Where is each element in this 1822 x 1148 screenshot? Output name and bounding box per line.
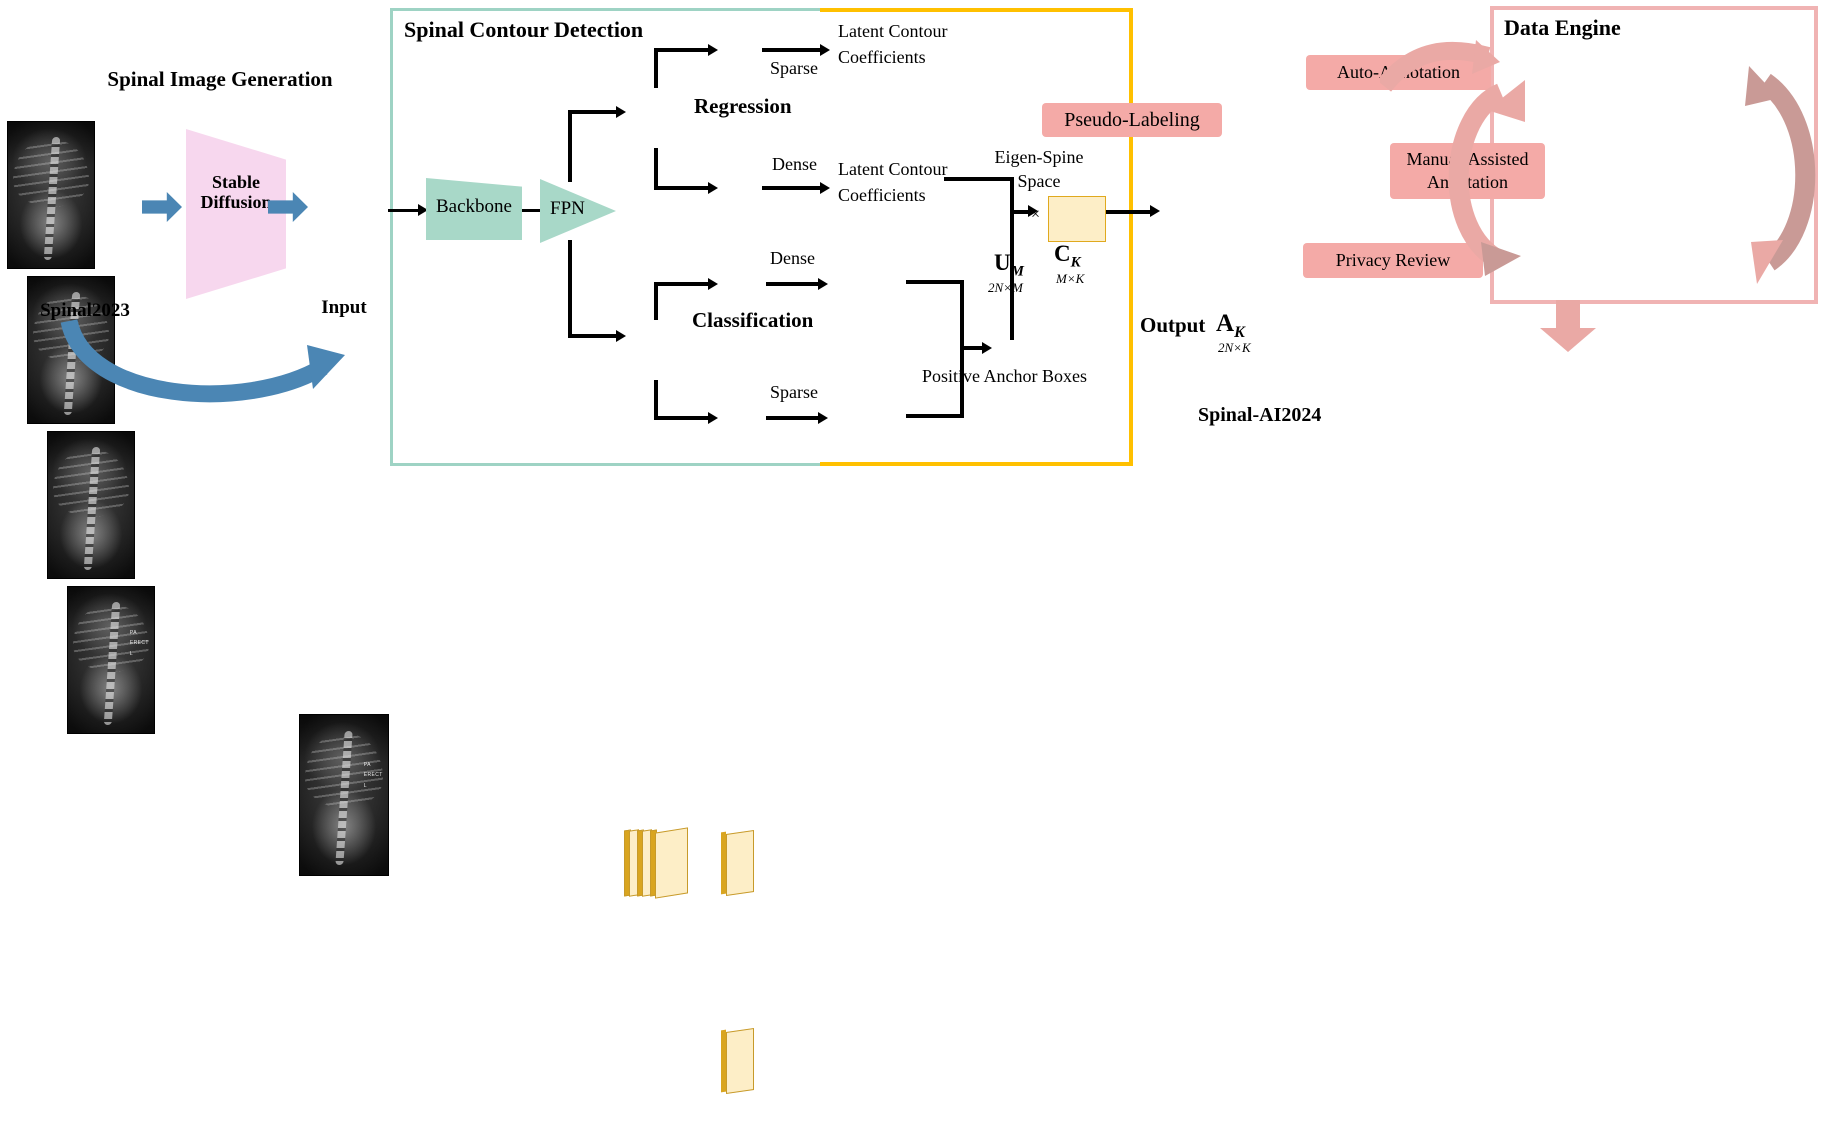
c-matrix-dims: M×K bbox=[1056, 272, 1084, 287]
a-matrix-symbol: AK bbox=[1216, 310, 1245, 342]
highlight-frame-top bbox=[820, 8, 1132, 12]
latent-contour-coefficients-top: Latent Contour Coefficients bbox=[838, 18, 947, 70]
data-engine-to-dataset-arrow bbox=[1540, 300, 1598, 352]
reg-sparse-label: Sparse bbox=[770, 58, 818, 78]
highlight-frame-bottom bbox=[820, 462, 1132, 466]
positive-anchor-boxes-label: Positive Anchor Boxes bbox=[922, 366, 1087, 386]
feedback-curve-arrow bbox=[55, 315, 345, 420]
cls-dense-out-line bbox=[766, 282, 822, 286]
cls-sparse-out-head bbox=[818, 412, 828, 424]
eigen-spine-space-label: Eigen-Spine Space bbox=[985, 145, 1093, 194]
c-matrix-block bbox=[1048, 196, 1106, 242]
cls-sparse-vertical bbox=[654, 380, 658, 420]
latent-bottom-line2: Coefficients bbox=[838, 185, 926, 205]
cls-dense-horizontal bbox=[654, 282, 712, 286]
fpn-split-down-vertical bbox=[568, 240, 572, 338]
multiply-symbol: × bbox=[1031, 206, 1040, 224]
reg-sparse-out-head bbox=[820, 44, 830, 56]
detection-title: Spinal Contour Detection bbox=[404, 18, 643, 43]
cls-sparse-label: Sparse bbox=[770, 382, 818, 402]
output-label: Output bbox=[1140, 314, 1205, 338]
pseudo-labeling-pill[interactable]: Pseudo-Labeling bbox=[1042, 103, 1222, 137]
backbone-label: Backbone bbox=[426, 196, 522, 217]
fpn-split-up-vertical bbox=[568, 110, 572, 182]
cls-dense-head bbox=[708, 278, 718, 290]
a-matrix-dims: 2N×K bbox=[1218, 341, 1251, 356]
reg-dense-out-head bbox=[820, 182, 830, 194]
reg-sparse-head-sheet bbox=[722, 832, 754, 894]
latent-contour-coefficients-bottom: Latent Contour Coefficients bbox=[838, 156, 947, 208]
cls-dense-vertical bbox=[654, 282, 658, 320]
reg-dense-vertical bbox=[654, 148, 658, 190]
fpn-label: FPN bbox=[550, 198, 585, 219]
cls-sparse-head bbox=[708, 412, 718, 424]
reg-sparse-horizontal bbox=[654, 48, 712, 52]
c-matrix-symbol: CK bbox=[1054, 241, 1081, 271]
reg-dense-out-line bbox=[762, 186, 824, 190]
reg-dense-head-sheet bbox=[722, 1030, 754, 1092]
input-xray-image: PAERECTL bbox=[300, 715, 388, 875]
data-engine-cycle-arrow-right bbox=[1745, 62, 1822, 292]
fpn-split-down-head bbox=[616, 330, 626, 342]
u-matrix-symbol: UM bbox=[994, 250, 1024, 280]
regression-feature-stack bbox=[624, 830, 686, 896]
a-symbol: A bbox=[1216, 310, 1234, 337]
reg-dense-label: Dense bbox=[772, 154, 817, 174]
latent-bottom-line1: Latent Contour bbox=[838, 159, 947, 179]
reg-dense-horizontal bbox=[654, 186, 712, 190]
spinal2023-xray-stack-sheet-1 bbox=[8, 122, 94, 268]
anchor-merge-out-head bbox=[982, 342, 992, 354]
reg-dense-head bbox=[708, 182, 718, 194]
cls-dense-label: Dense bbox=[770, 248, 815, 268]
cls-sparse-horizontal bbox=[654, 416, 712, 420]
cls-dense-out-head bbox=[818, 278, 828, 290]
a-subscript: K bbox=[1234, 324, 1245, 341]
spinal2023-xray-stack-sheet-3 bbox=[48, 432, 134, 578]
fpn-split-down-horizontal bbox=[568, 334, 620, 338]
stable-diffusion-block bbox=[186, 129, 286, 299]
eigen-to-output-head bbox=[1150, 205, 1160, 217]
cls-sparse-out-line bbox=[766, 416, 822, 420]
fpn-split-up-head bbox=[616, 106, 626, 118]
eigen-to-output-line bbox=[1106, 210, 1154, 214]
pseudo-label-to-data-engine-arrow bbox=[1380, 40, 1500, 100]
regression-label: Regression bbox=[694, 95, 792, 119]
u-matrix-dims: 2N×M bbox=[988, 281, 1023, 296]
reg-sparse-out-line bbox=[762, 48, 824, 52]
anchor-merge-top-line bbox=[906, 280, 964, 284]
reg-sparse-head bbox=[708, 44, 718, 56]
latent-top-line1: Latent Contour bbox=[838, 21, 947, 41]
eigen-space-line1: Eigen-Spine bbox=[995, 147, 1084, 167]
fpn-split-up-horizontal bbox=[568, 110, 620, 114]
reg-sparse-vertical bbox=[654, 48, 658, 88]
stable-diffusion-label-line2: Diffusion bbox=[200, 192, 271, 212]
spinal-ai2024-dataset-label: Spinal-AI2024 bbox=[1198, 404, 1321, 426]
c-symbol: C bbox=[1054, 241, 1071, 266]
c-subscript: K bbox=[1071, 255, 1081, 271]
arrow-dataset-to-diffusion bbox=[142, 192, 182, 222]
latent-top-line2: Coefficients bbox=[838, 47, 926, 67]
spinal2023-xray-stack-sheet-4: PAERECTL bbox=[68, 587, 154, 733]
anchor-merge-bottom-line bbox=[906, 414, 964, 418]
arrow-input-to-backbone-line bbox=[388, 209, 420, 212]
eigen-space-line2: Space bbox=[1018, 171, 1061, 191]
highlight-frame-right bbox=[1129, 8, 1133, 466]
data-engine-title: Data Engine bbox=[1504, 16, 1621, 41]
stable-diffusion-label-line1: Stable bbox=[212, 172, 260, 192]
classification-label: Classification bbox=[692, 309, 813, 333]
u-symbol: U bbox=[994, 250, 1011, 275]
spinal-image-generation-title: Spinal Image Generation bbox=[85, 68, 355, 92]
u-subscript: M bbox=[1011, 264, 1024, 280]
